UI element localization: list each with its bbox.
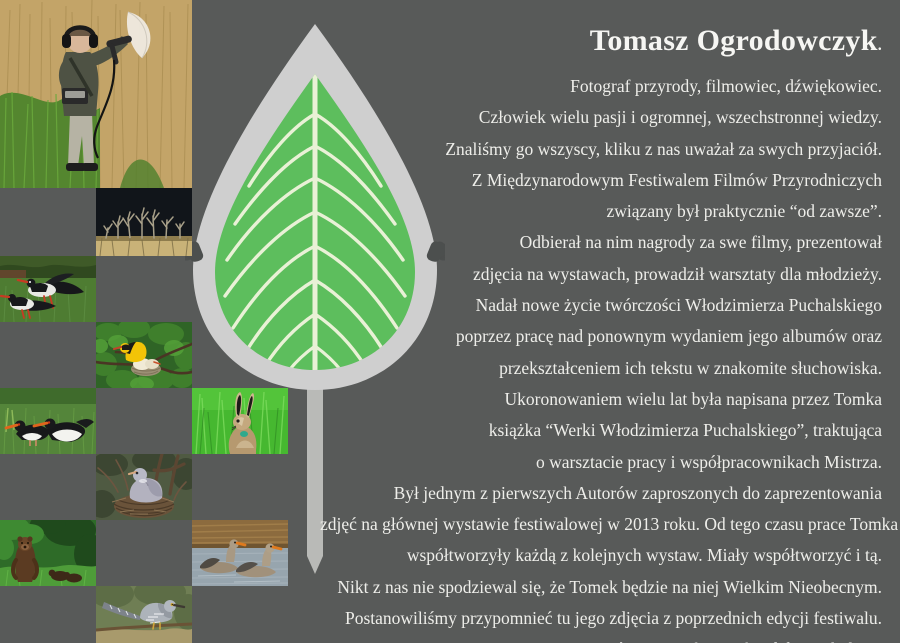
body-line: współtworzyły każdą z kolejnych wystaw. … — [320, 540, 882, 571]
body-line: Nikt z nas nie spodziewal się, że Tomek … — [320, 572, 882, 603]
page-title: Tomasz Ogrodowczyk. — [320, 22, 882, 65]
photo-black-storks — [0, 256, 96, 322]
body-line: Ukoronowaniem wielu lat była napisana pr… — [320, 384, 882, 415]
body-line: Popatrzmy i wspomnijmy świetnego fotogra… — [320, 634, 882, 643]
body-line: związany był praktycznie “od zawsze”. — [320, 196, 882, 227]
body-line: przekształceniem ich tekstu w znakomite … — [320, 353, 882, 384]
page-title-dot: . — [878, 37, 882, 54]
photo-golden-oriole — [96, 322, 192, 388]
photo-brown-bear — [0, 520, 96, 586]
body-line: o warsztacie pracy i współpracownikach M… — [320, 447, 882, 478]
body-line: zdjęcia na wystawach, prowadził warsztat… — [320, 259, 882, 290]
memorial-text-column: Tomasz Ogrodowczyk. Fotograf przyrody, f… — [320, 22, 882, 643]
page-title-text: Tomasz Ogrodowczyk — [590, 24, 878, 57]
body-line: Człowiek wielu pasji i ogromnej, wszechs… — [320, 102, 882, 133]
memorial-poster: Tomasz Ogrodowczyk. Fotograf przyrody, f… — [0, 0, 900, 643]
photo-wood-pigeon-nest — [96, 454, 192, 520]
photo-mosaic — [0, 0, 290, 643]
body-line: Fotograf przyrody, filmowiec, dźwiękowie… — [320, 71, 882, 102]
body-line: poprzez pracę nad ponownym wydaniem jego… — [320, 321, 882, 352]
photo-oystercatchers — [0, 388, 96, 454]
body-line: Postanowiliśmy przypomnieć tu jego zdjęc… — [320, 603, 882, 634]
body-line: Znaliśmy go wszyscy, kliku z nas uważał … — [320, 134, 882, 165]
memorial-paragraph: Fotograf przyrody, filmowiec, dźwiękowie… — [320, 71, 882, 643]
body-line: Był jednym z pierwszych Autorów zaproszo… — [320, 478, 882, 509]
body-line: Odbierał na nim nagrody za swe filmy, pr… — [320, 227, 882, 258]
photo-hare — [192, 388, 288, 454]
body-line: zdjęć na głównej wystawie festiwalowej w… — [320, 509, 882, 540]
photo-sound-recordist — [0, 0, 192, 188]
body-line: Nadał nowe życie twórczości Włodzimierza… — [320, 290, 882, 321]
body-line: książka “Werki Włodzimierza Puchalskiego… — [320, 415, 882, 446]
photo-cuckoo — [96, 586, 192, 643]
photo-deer-antlers — [96, 188, 192, 256]
photo-greylag-geese — [192, 520, 288, 586]
body-line: Z Międzynarodowym Festiwalem Filmów Przy… — [320, 165, 882, 196]
